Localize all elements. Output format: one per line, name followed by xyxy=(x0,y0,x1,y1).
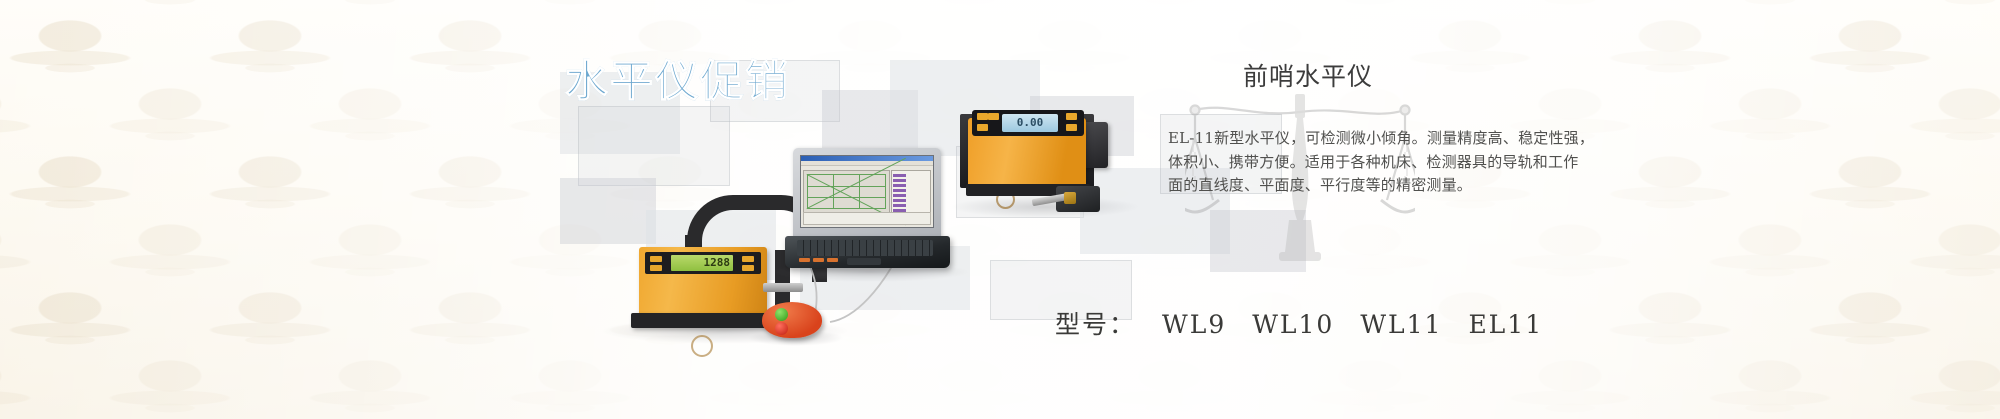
digital-control-panel: 0.00 xyxy=(972,110,1084,136)
remote-red-button[interactable] xyxy=(775,322,788,335)
level-button-2[interactable] xyxy=(650,265,662,271)
model-wl9: WL9 xyxy=(1162,310,1226,339)
remote-body xyxy=(762,302,822,338)
description-line-3: 面的直线度、平面度、平行度等的精密测量。 xyxy=(1168,174,1548,198)
page-title: 水平仪促销 xyxy=(565,47,790,109)
laptop-lid xyxy=(793,148,941,240)
handheld-remote xyxy=(762,302,822,338)
software-menubar xyxy=(801,161,933,166)
digital-probe-tip xyxy=(1064,192,1076,204)
software-data-list xyxy=(891,170,931,213)
level-body: 1288 xyxy=(639,247,767,317)
digital-button-1[interactable] xyxy=(977,113,988,120)
promo-banner: 水平仪促销 前哨水平仪 EL-11新型水平仪，可检测微小倾角。测量精度高、稳定性… xyxy=(0,0,2000,419)
laptop-touchpad[interactable] xyxy=(847,258,881,265)
model-wl11: WL11 xyxy=(1360,310,1442,339)
description-line-1: EL-11新型水平仪，可检测微小倾角。测量精度高、稳定性强， xyxy=(1168,127,1548,151)
remote-green-button[interactable] xyxy=(775,308,788,321)
plot-grid xyxy=(807,174,886,209)
level-control-panel: 1288 xyxy=(645,252,761,274)
digital-lcd-display: 0.00 xyxy=(1002,114,1058,132)
model-el11: EL11 xyxy=(1468,310,1543,339)
product-description: EL-11新型水平仪，可检测微小倾角。测量精度高、稳定性强， 体积小、携带方便。… xyxy=(1168,127,1548,198)
digital-button-2[interactable] xyxy=(977,124,988,131)
level-button-3[interactable] xyxy=(742,256,754,262)
laptop-indicator-2 xyxy=(813,258,824,262)
level-brand-seal xyxy=(691,335,713,357)
section-heading: 前哨水平仪 xyxy=(1243,57,1373,93)
models-label: 型号： xyxy=(1055,310,1136,339)
description-line-2: 体积小、携带方便。适用于各种机床、检测器具的导轨和工作 xyxy=(1168,151,1548,175)
laptop-keyboard[interactable] xyxy=(797,240,933,256)
level-lcd-display: 1288 xyxy=(671,255,733,271)
software-plot-canvas xyxy=(803,170,890,213)
laptop-indicator-1 xyxy=(799,258,810,262)
digital-button-5[interactable] xyxy=(1066,124,1077,131)
digital-button-3[interactable] xyxy=(988,113,999,120)
model-wl10: WL10 xyxy=(1252,310,1334,339)
product-digital-level: 0.00 xyxy=(960,88,1120,213)
level-button-1[interactable] xyxy=(650,256,662,262)
software-results-table xyxy=(803,212,931,225)
laptop-indicator-3 xyxy=(827,258,838,262)
laptop-screen xyxy=(800,155,934,228)
laptop-measurement-software xyxy=(785,148,950,268)
digital-button-4[interactable] xyxy=(1066,113,1077,120)
laptop-base xyxy=(785,236,950,268)
level-button-4[interactable] xyxy=(742,265,754,271)
model-numbers: 型号：WL9WL10WL11EL11 xyxy=(1055,305,1543,341)
